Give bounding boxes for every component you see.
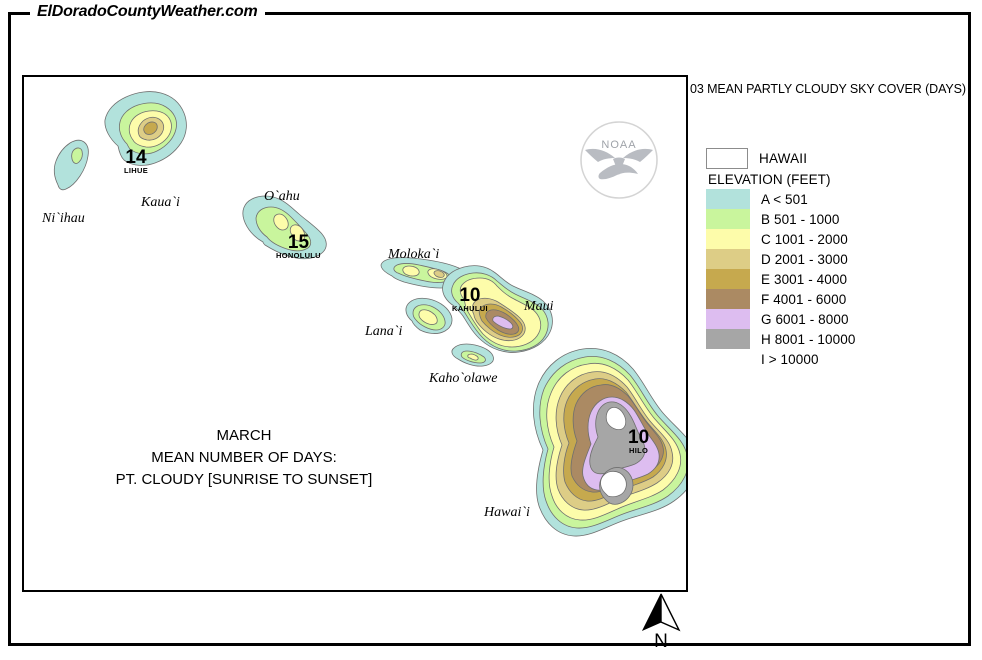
map-caption: MARCH MEAN NUMBER OF DAYS: PT. CLOUDY [S… <box>24 425 464 491</box>
legend-label-e: E 3001 - 4000 <box>761 272 847 287</box>
legend-label-f: F 4001 - 6000 <box>761 292 846 307</box>
island-kahoolawe <box>452 344 494 366</box>
legend-row-f: F 4001 - 6000 <box>706 289 966 309</box>
station-city-kahului: KAHULUI <box>452 304 488 313</box>
legend-swatch-e <box>706 269 750 289</box>
island-lanai <box>406 298 452 333</box>
legend-row-g: G 6001 - 8000 <box>706 309 966 329</box>
station-honolulu: 15 HONOLULU <box>276 234 321 260</box>
station-kahului: 10 KAHULUI <box>452 287 488 313</box>
legend-swatch-c <box>706 229 750 249</box>
island-label-kauai: Kaua`i <box>141 195 180 211</box>
island-label-niihau: Ni`ihau <box>42 211 85 227</box>
station-city-lihue: LIHUE <box>124 166 148 175</box>
station-value-kahului: 10 <box>452 287 488 304</box>
sheet-header: 03 MEAN PARTLY CLOUDY SKY COVER (DAYS) <box>690 82 982 96</box>
legend-swatch-g <box>706 309 750 329</box>
north-label: N <box>638 633 684 651</box>
caption-detail: PT. CLOUDY [SUNRISE TO SUNSET] <box>24 469 464 491</box>
island-label-lanai: Lana`i <box>365 324 402 340</box>
north-arrow: N <box>638 592 684 652</box>
station-value-honolulu: 15 <box>276 234 321 251</box>
legend-row-a: A < 501 <box>706 189 966 209</box>
station-city-honolulu: HONOLULU <box>276 251 321 260</box>
map-panel[interactable]: .ct { stroke: #6f6f6f; stroke-width: 0.8… <box>22 75 688 592</box>
legend-row-b: B 501 - 1000 <box>706 209 966 229</box>
brand-title: ElDoradoCountyWeather.com <box>30 3 265 21</box>
legend-label-g: G 6001 - 8000 <box>761 312 849 327</box>
legend-swatch-d <box>706 249 750 269</box>
legend-label-b: B 501 - 1000 <box>761 212 840 227</box>
legend-label-d: D 2001 - 3000 <box>761 252 848 267</box>
legend-hawaii-label: HAWAII <box>759 151 807 166</box>
island-niihau <box>54 140 88 190</box>
legend-row-i: I > 10000 <box>706 349 966 369</box>
island-hawaii <box>533 348 686 536</box>
station-city-hilo: HILO <box>628 446 649 455</box>
legend-row-c: C 1001 - 2000 <box>706 229 966 249</box>
legend-swatch-h <box>706 329 750 349</box>
map-legend: HAWAII ELEVATION (FEET) A < 501B 501 - 1… <box>706 148 966 369</box>
station-value-hilo: 10 <box>628 429 649 446</box>
legend-swatch-b <box>706 209 750 229</box>
station-lihue: 14 LIHUE <box>124 149 148 175</box>
station-value-lihue: 14 <box>124 149 148 166</box>
legend-swatch-a <box>706 189 750 209</box>
legend-label-a: A < 501 <box>761 192 808 207</box>
legend-label-c: C 1001 - 2000 <box>761 232 848 247</box>
legend-row-h: H 8001 - 10000 <box>706 329 966 349</box>
legend-label-i: I > 10000 <box>761 352 819 367</box>
caption-month: MARCH <box>24 425 464 447</box>
island-label-molokai: Moloka`i <box>388 247 439 263</box>
legend-subtitle: ELEVATION (FEET) <box>708 172 966 187</box>
legend-swatch-f <box>706 289 750 309</box>
legend-row-d: D 2001 - 3000 <box>706 249 966 269</box>
legend-row-e: E 3001 - 4000 <box>706 269 966 289</box>
legend-label-h: H 8001 - 10000 <box>761 332 855 347</box>
legend-swatch-i <box>706 349 750 369</box>
island-label-hawaii: Hawai`i <box>484 505 530 521</box>
station-hilo: 10 HILO <box>628 429 649 455</box>
legend-hawaii-row: HAWAII <box>706 148 966 169</box>
island-label-kahoolawe: Kaho`olawe <box>429 371 497 387</box>
island-label-oahu: O`ahu <box>264 189 300 205</box>
legend-class-list: A < 501B 501 - 1000C 1001 - 2000D 2001 -… <box>706 189 966 369</box>
caption-metric: MEAN NUMBER OF DAYS: <box>24 447 464 469</box>
legend-hawaii-swatch <box>706 148 748 169</box>
island-label-maui: Maui <box>524 299 554 315</box>
